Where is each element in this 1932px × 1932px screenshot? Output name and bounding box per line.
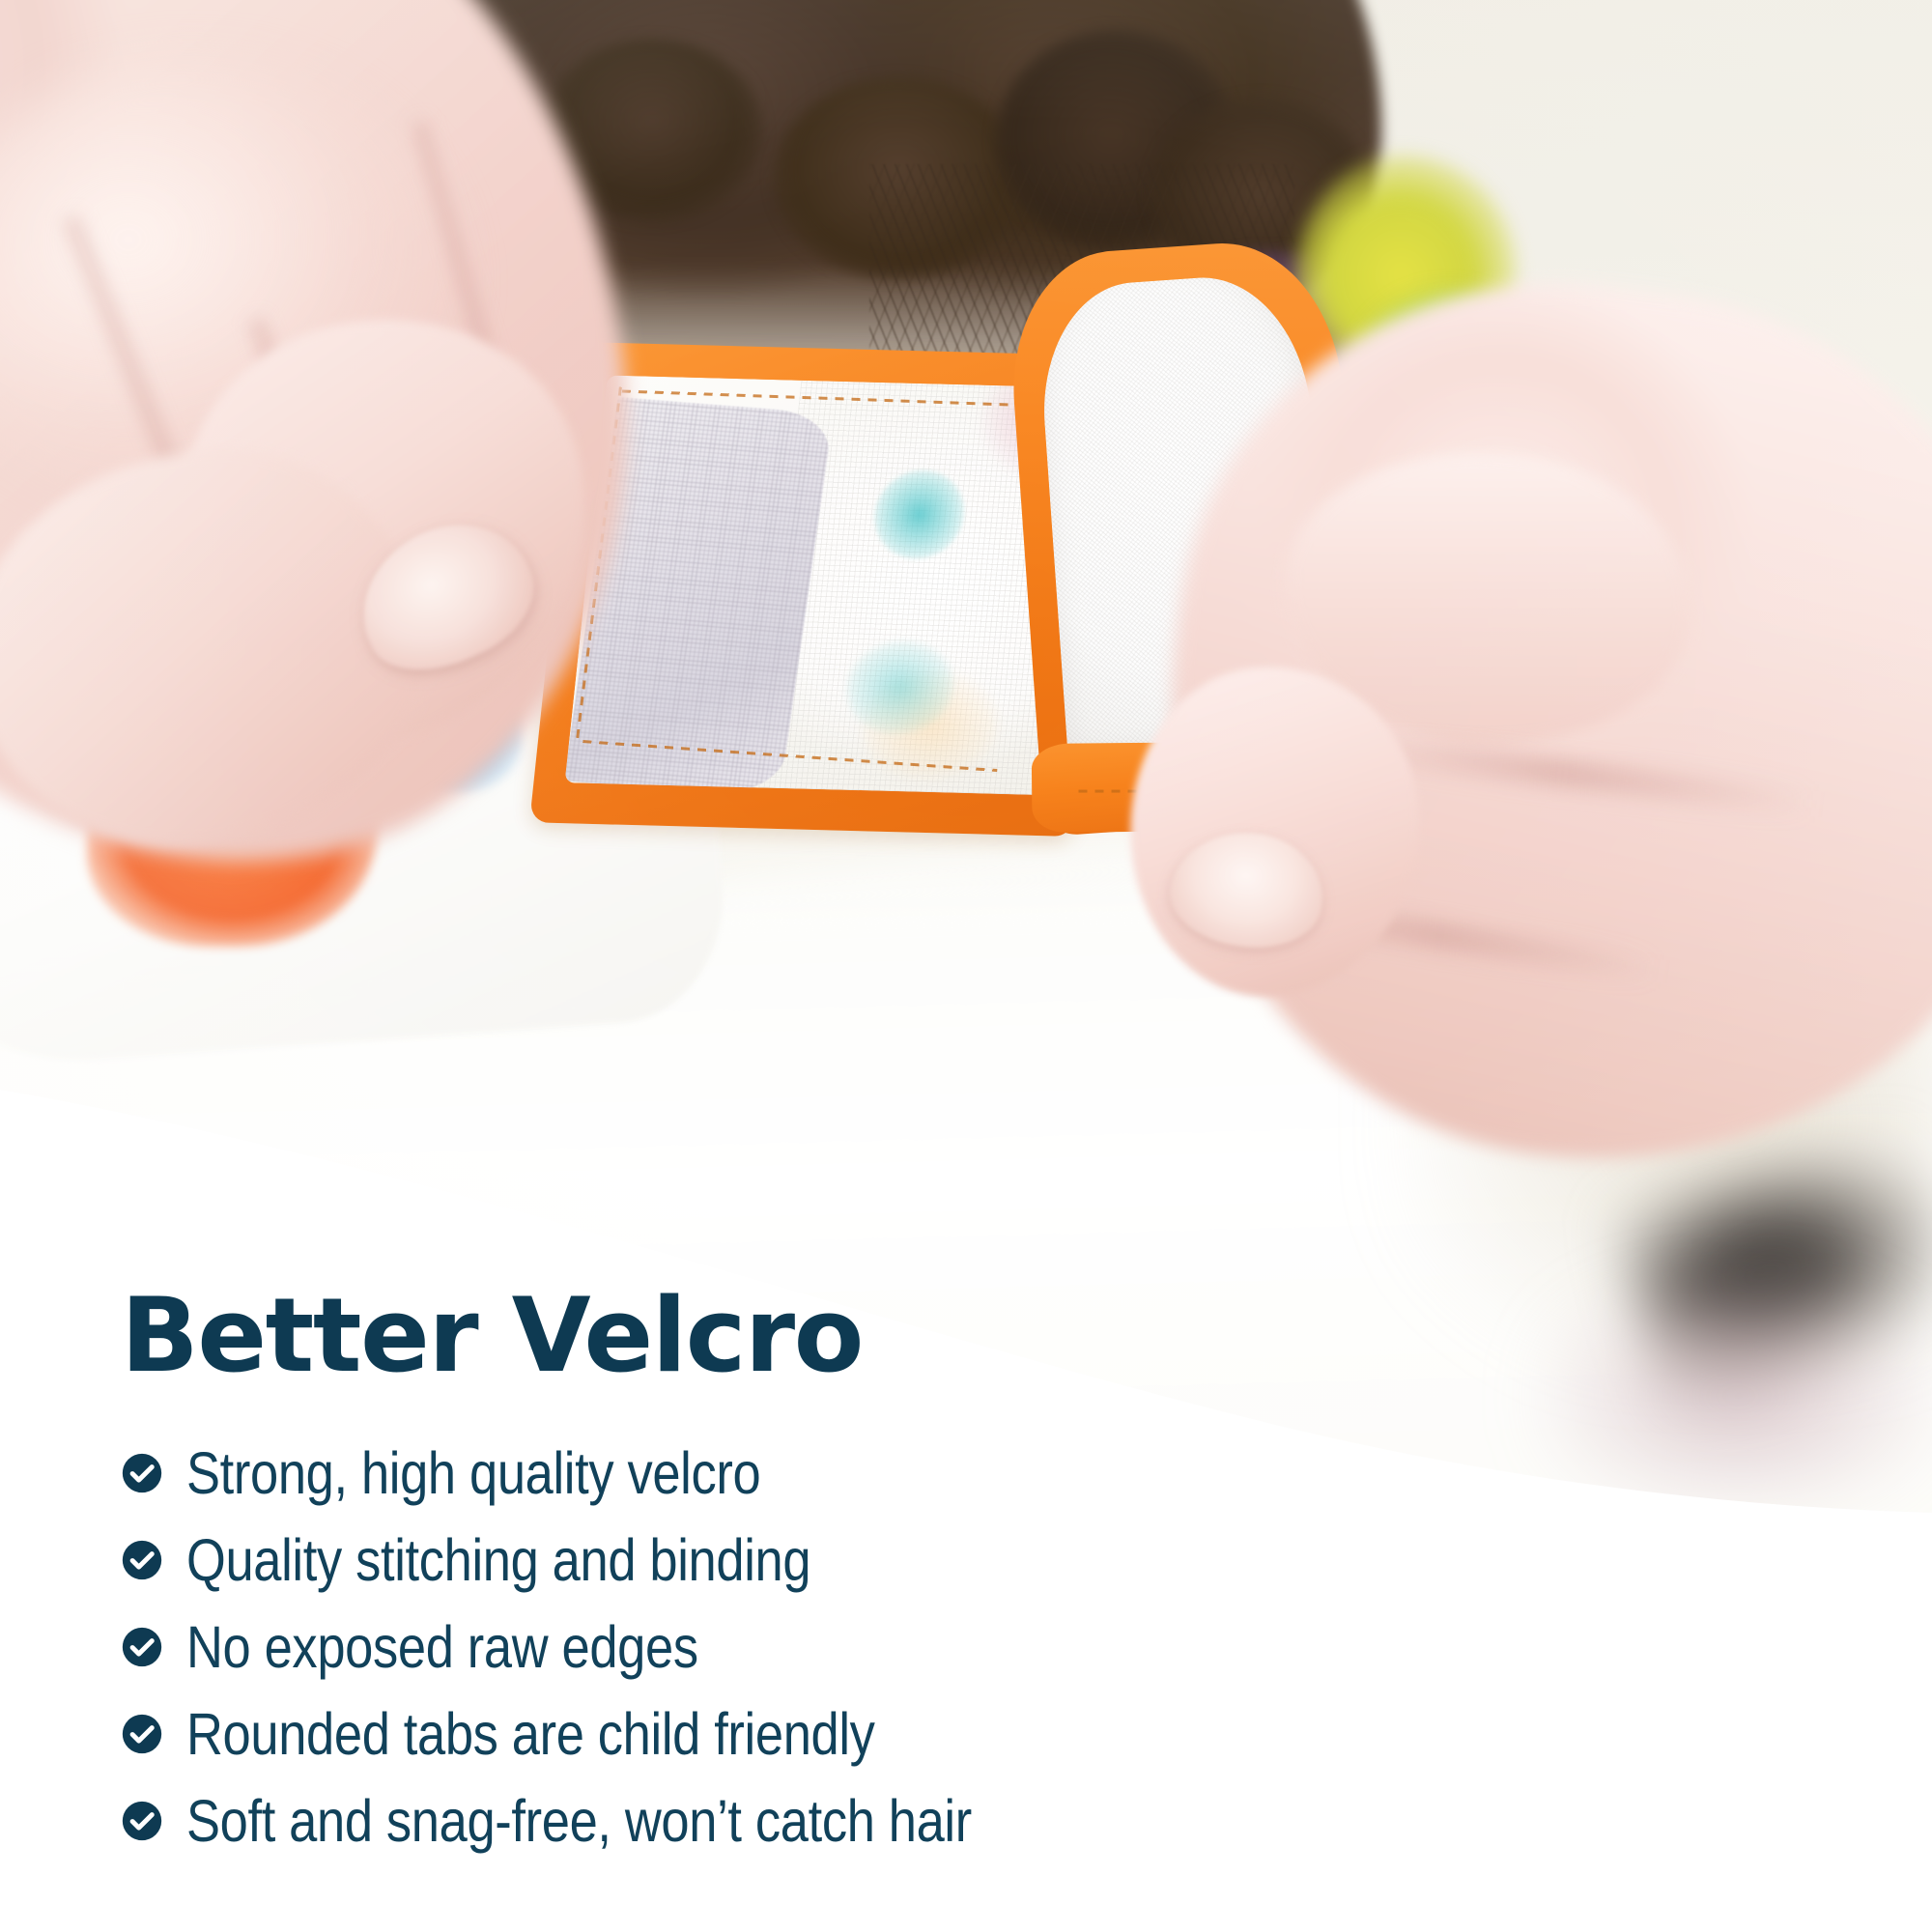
check-circle-icon	[121, 1539, 163, 1581]
feature-label: Soft and snag-free, won’t catch hair	[186, 1792, 972, 1851]
list-item: Quality stitching and binding	[121, 1517, 1570, 1604]
background-bokeh-pink	[1546, 1285, 1932, 1507]
list-item: Soft and snag-free, won’t catch hair	[121, 1777, 1570, 1864]
check-circle-icon	[121, 1800, 163, 1842]
check-circle-icon	[121, 1713, 163, 1755]
list-item: Rounded tabs are child friendly	[121, 1690, 1570, 1777]
check-circle-icon	[121, 1452, 163, 1494]
feature-panel: Better Velcro Strong, high quality velcr…	[121, 1285, 1570, 1864]
page-title: Better Velcro	[121, 1285, 1570, 1387]
list-item: Strong, high quality velcro	[121, 1430, 1570, 1517]
list-item: No exposed raw edges	[121, 1604, 1570, 1690]
feature-label: No exposed raw edges	[186, 1618, 698, 1677]
feature-label: Strong, high quality velcro	[186, 1444, 760, 1503]
tab-inner-face-left	[565, 376, 1085, 796]
feature-list: Strong, high quality velcro Quality stit…	[121, 1430, 1570, 1864]
feature-label: Quality stitching and binding	[186, 1531, 810, 1590]
infographic-canvas: Better Velcro Strong, high quality velcr…	[0, 0, 1932, 1932]
check-circle-icon	[121, 1626, 163, 1668]
feature-label: Rounded tabs are child friendly	[186, 1705, 875, 1764]
